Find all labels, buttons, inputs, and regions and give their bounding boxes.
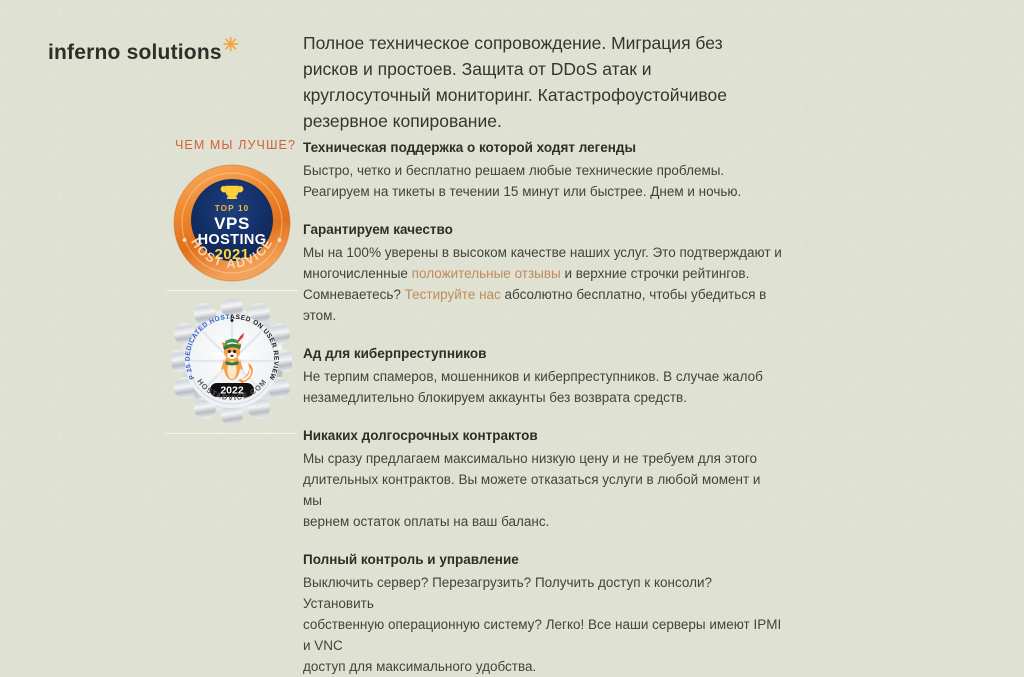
brand-logo[interactable]: inferno solutions✳ — [48, 41, 239, 65]
feature-block: Гарантируем качествоМы на 100% уверены в… — [303, 220, 783, 326]
badge-hostadvice-dedicated-2022[interactable]: 2022 TOP 25 DEDICATED HOSTING BASED ON U… — [167, 291, 297, 433]
feature-heading: Техническая поддержка о которой ходят ле… — [303, 138, 783, 157]
feature-text: доступ для максимального удобства. — [303, 659, 536, 674]
feature-text: собственную операционную систему? Легко!… — [303, 617, 781, 653]
feature-heading: Полный контроль и управление — [303, 550, 783, 569]
feature-heading: Гарантируем качество — [303, 220, 783, 239]
badge-divider-2 — [167, 433, 297, 434]
feature-text: Не терпим спамеров, мошенников и киберпр… — [303, 369, 763, 384]
feature-block: Никаких долгосрочных контрактовМы сразу … — [303, 426, 783, 532]
feature-heading: Никаких долгосрочных контрактов — [303, 426, 783, 445]
feature-body: Быстро, четко и бесплатно решаем любые т… — [303, 160, 783, 202]
features-list: Техническая поддержка о которой ходят ле… — [303, 138, 783, 677]
feature-text: Мы сразу предлагаем максимально низкую ц… — [303, 451, 757, 466]
left-column: ЧЕМ МЫ ЛУЧШЕ? — [140, 138, 298, 152]
svg-text:TOP 10: TOP 10 — [215, 204, 250, 213]
feature-text: Реагируем на тикеты в течении 15 минут и… — [303, 184, 741, 199]
brand-logo-text: inferno solutions — [48, 41, 222, 64]
feature-body: Мы на 100% уверены в высоком качестве на… — [303, 242, 783, 326]
svg-text:VPS: VPS — [214, 214, 250, 233]
why-us-kicker: ЧЕМ МЫ ЛУЧШЕ? — [140, 138, 298, 152]
feature-text: Мы на 100% уверены в высоком качестве на… — [303, 245, 782, 260]
feature-link[interactable]: положительные отзывы — [412, 266, 561, 281]
feature-text: незамедлительно блокируем аккаунты без в… — [303, 390, 687, 405]
feature-text: многочисленные — [303, 266, 412, 281]
feature-text: Выключить сервер? Перезагрузить? Получит… — [303, 575, 712, 611]
feature-heading: Ад для киберпреступников — [303, 344, 783, 363]
feature-body: Выключить сервер? Перезагрузить? Получит… — [303, 572, 783, 677]
feature-body: Мы сразу предлагаем максимально низкую ц… — [303, 448, 783, 532]
feature-text: и верхние строчки рейтингов. — [561, 266, 750, 281]
dedicated-hosting-2022-badge-icon: 2022 TOP 25 DEDICATED HOSTING BASED ON U… — [172, 299, 292, 423]
feature-body: Не терпим спамеров, мошенников и киберпр… — [303, 366, 783, 408]
page-headline: Полное техническое сопровождение. Миграц… — [303, 30, 773, 134]
award-badge-stack: TOP 10 VPS HOSTING 2021 HOST ADVICE — [167, 160, 297, 434]
landing-page: inferno solutions✳ Полное техническое со… — [0, 0, 1024, 563]
feature-text: вернем остаток оплаты на ваш баланс. — [303, 514, 549, 529]
asterisk-icon: ✳ — [223, 35, 239, 56]
feature-block: Ад для киберпреступниковНе терпим спамер… — [303, 344, 783, 408]
feature-link[interactable]: Тестируйте нас — [405, 287, 501, 302]
feature-text: длительных контрактов. Вы можете отказат… — [303, 472, 760, 508]
vps-hosting-2021-badge-icon: TOP 10 VPS HOSTING 2021 HOST ADVICE — [171, 162, 293, 284]
feature-block: Полный контроль и управлениеВыключить се… — [303, 550, 783, 677]
badge-hostadvice-vps-2021[interactable]: TOP 10 VPS HOSTING 2021 HOST ADVICE — [167, 160, 297, 290]
feature-text: Сомневаетесь? — [303, 287, 405, 302]
feature-block: Техническая поддержка о которой ходят ле… — [303, 138, 783, 202]
feature-text: Быстро, четко и бесплатно решаем любые т… — [303, 163, 724, 178]
